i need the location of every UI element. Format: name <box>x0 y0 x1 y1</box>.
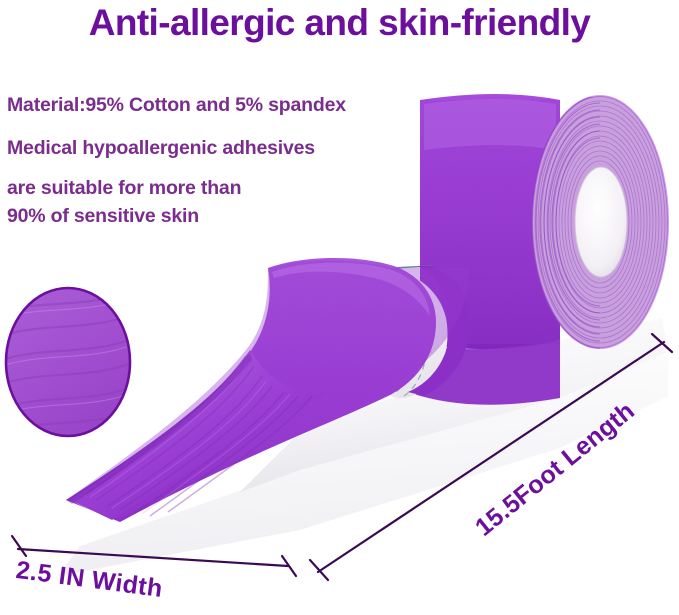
width-tick-left <box>12 536 26 556</box>
backing-paper-runway <box>240 318 668 492</box>
roll-tape-tail <box>408 340 560 405</box>
backing-paper-grid <box>388 274 436 396</box>
fabric-texture-inset <box>0 286 136 440</box>
roll-spiral-edge <box>532 96 668 348</box>
length-dimension-label: 15.5Foot Length <box>470 397 641 543</box>
roll-body <box>420 94 560 349</box>
tape-strip <box>60 250 480 540</box>
feature-line-3: are suitable for more than <box>7 177 241 200</box>
strip-top-face <box>66 258 436 522</box>
backing-paper-curve <box>386 268 448 398</box>
width-dimension-label: 2.5 IN Width <box>14 556 164 604</box>
tape-wave-texture <box>86 356 312 516</box>
length-tick-top <box>652 334 672 352</box>
strip-front-tongue <box>70 350 330 520</box>
strip-far-wall <box>408 266 470 396</box>
width-tick-right <box>282 556 296 576</box>
product-marketing-image: Anti-allergic and skin-friendly Material… <box>0 0 679 615</box>
page-title: Anti-allergic and skin-friendly <box>0 4 679 43</box>
feature-line-1: Material:95% Cotton and 5% spandex <box>7 94 346 117</box>
roll-core <box>575 167 627 277</box>
product-illustration <box>0 0 679 615</box>
feature-line-2: Medical hypoallergenic adhesives <box>7 137 315 160</box>
feature-line-4: 90% of sensitive skin <box>7 205 199 228</box>
tape-roll <box>408 94 668 405</box>
length-tick-bottom <box>310 560 328 580</box>
